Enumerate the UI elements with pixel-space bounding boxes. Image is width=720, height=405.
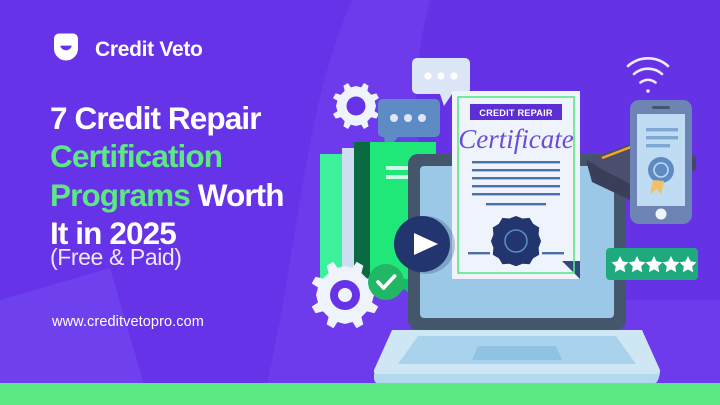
page-title: 7 Credit Repair Certification Programs W… bbox=[50, 99, 330, 252]
headline-line-2: Certification bbox=[50, 138, 222, 174]
brand-logo[interactable]: Credit Veto bbox=[48, 31, 203, 67]
smile-cup-logo-icon bbox=[48, 31, 84, 67]
headline-line-3-accent: Programs bbox=[50, 177, 190, 213]
hero-illustration: CREDIT REPAIR Certificate bbox=[300, 44, 720, 384]
brand-name: Credit Veto bbox=[95, 39, 203, 60]
wifi-icon bbox=[628, 58, 668, 92]
promo-banner: Credit Veto 7 Credit Repair Certificatio… bbox=[0, 0, 720, 405]
smartphone-icon bbox=[630, 100, 692, 224]
check-circle-icon bbox=[368, 264, 404, 300]
certificate-script-title: Certificate bbox=[458, 124, 573, 154]
headline-line-3-plain: Worth bbox=[190, 177, 284, 213]
certificate-icon: CREDIT REPAIR Certificate bbox=[452, 91, 580, 279]
star-rating-badge bbox=[606, 248, 698, 280]
gear-icon bbox=[333, 83, 379, 129]
bottom-accent-bar bbox=[0, 383, 720, 405]
headline-line-1: 7 Credit Repair bbox=[50, 100, 261, 136]
subheadline: (Free & Paid) bbox=[50, 244, 182, 271]
website-url[interactable]: www.creditvetopro.com bbox=[52, 314, 204, 330]
certificate-banner-label: CREDIT REPAIR bbox=[479, 108, 553, 118]
